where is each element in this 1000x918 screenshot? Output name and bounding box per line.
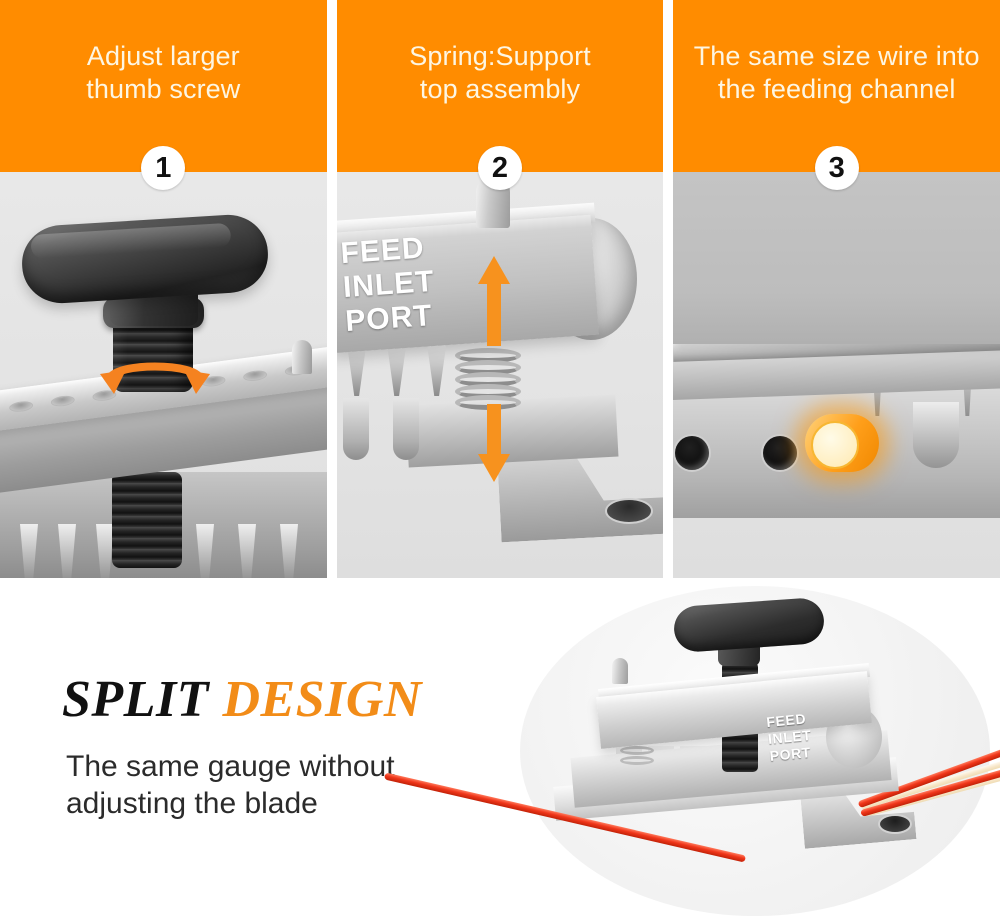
hero-mounting-hole (878, 814, 912, 834)
step-1-title: Adjust larger thumb screw (76, 40, 250, 106)
step-3-title: The same size wire into the feeding chan… (684, 40, 990, 106)
step-3-title-line2: the feeding channel (694, 73, 980, 106)
blade-teeth-group (337, 342, 471, 462)
step-3-photo (673, 172, 1000, 578)
hero-subtitle-line1: The same gauge without (66, 748, 496, 785)
hero-thumb-screw-handle (673, 597, 826, 653)
support-spring (455, 348, 521, 410)
step-2-title-line2: top assembly (409, 73, 591, 106)
rotation-arrow-icon (96, 350, 214, 408)
step-2-title-line1: Spring:Support (409, 40, 591, 73)
hero-pin-left (612, 658, 628, 684)
step-1-badge: 1 (141, 146, 185, 190)
hero-feed-inlet-port-label: FEED INLET PORT (766, 710, 814, 764)
step-2-title: Spring:Support top assembly (399, 40, 601, 106)
arrow-down-icon (477, 404, 511, 484)
step-1-photo (0, 172, 327, 578)
hero-section: SPLIT DESIGN The same gauge without adju… (0, 578, 1000, 918)
lower-screw-shaft (112, 472, 182, 568)
arrow-up-icon (477, 254, 511, 346)
step-2-photo: FEED INLET PORT (337, 172, 664, 578)
hero-title-orange: DESIGN (222, 671, 422, 728)
steps-row: Adjust larger thumb screw 1 (0, 0, 1000, 578)
step-3-badge: 3 (815, 146, 859, 190)
feed-label-line3: PORT (344, 299, 438, 339)
step-1-title-line1: Adjust larger (86, 40, 240, 73)
mounting-hole (605, 498, 653, 524)
hero-title: SPLIT DESIGN (62, 670, 422, 729)
feed-inlet-port-label: FEED INLET PORT (339, 231, 438, 340)
upper-body-face (673, 172, 1000, 344)
hero-title-black: SPLIT (62, 671, 209, 728)
step-panel-2: Spring:Support top assembly 2 FEED INLET… (337, 0, 664, 578)
step-1-title-line2: thumb screw (86, 73, 240, 106)
thumb-screw-handle (20, 213, 270, 306)
wire-hook-right (913, 402, 959, 468)
step-3-title-line1: The same size wire into (694, 40, 980, 73)
step-panel-1: Adjust larger thumb screw 1 (0, 0, 327, 578)
step-2-badge: 2 (478, 146, 522, 190)
highlighted-wire-end (805, 414, 879, 472)
alignment-pin (292, 340, 312, 374)
hero-product: FEED INLET PORT (570, 596, 990, 906)
hero-subtitle-line2: adjusting the blade (66, 785, 496, 822)
step-panel-3: The same size wire into the feeding chan… (673, 0, 1000, 578)
